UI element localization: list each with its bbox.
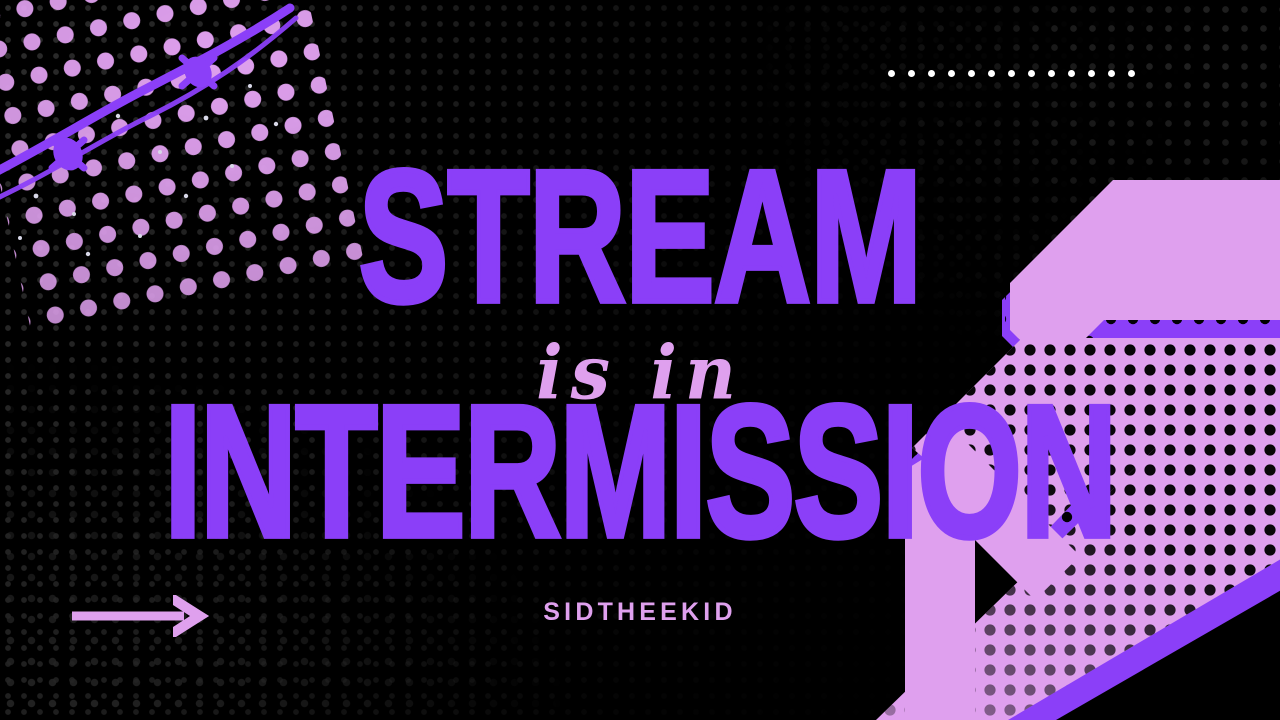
rule-dot <box>1088 70 1095 77</box>
rule-dot <box>1108 70 1115 77</box>
rule-dot <box>908 70 915 77</box>
rule-dot <box>1068 70 1075 77</box>
intermission-screen: STREAM INTERMISSION is in SIDTHEEKID <box>0 0 1280 720</box>
rule-dot <box>988 70 995 77</box>
rule-dot <box>1048 70 1055 77</box>
dotted-rule <box>888 70 1135 77</box>
rule-dot <box>928 70 935 77</box>
rule-dot <box>948 70 955 77</box>
rule-dot <box>1128 70 1135 77</box>
rule-dot <box>1008 70 1015 77</box>
rule-dot <box>888 70 895 77</box>
rule-dot <box>1028 70 1035 77</box>
arrow-right-icon <box>72 594 212 638</box>
rule-dot <box>968 70 975 77</box>
